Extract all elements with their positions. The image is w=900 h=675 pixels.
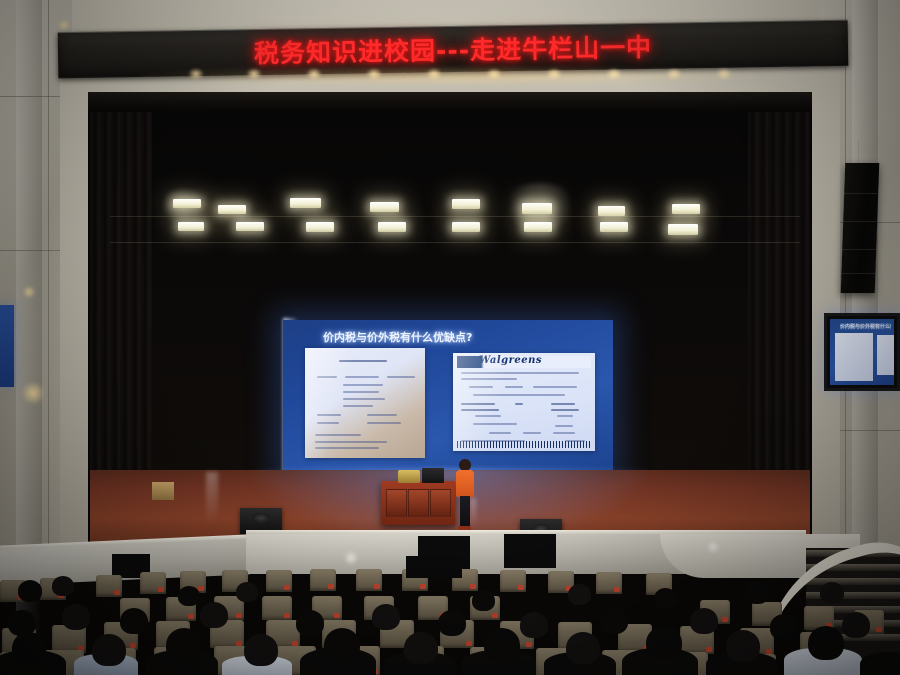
- slide-title: 价内税与价外税有什么优缺点?: [323, 329, 593, 345]
- audience-head: [372, 604, 400, 630]
- apron-shadow-panel: [406, 556, 462, 578]
- audience-head: [568, 584, 591, 605]
- banner-uplight: [426, 68, 442, 80]
- laptop: [422, 468, 444, 483]
- stage-light-lower: [378, 222, 406, 232]
- monitor-doc-invoice: [835, 333, 873, 381]
- audience-head: [404, 632, 438, 664]
- audience-head: [18, 580, 42, 602]
- banner-uplight: [246, 68, 262, 80]
- banner-uplight: [546, 68, 562, 80]
- audience-head: [726, 630, 760, 662]
- stage-curtain-left: [90, 112, 152, 492]
- walgreens-brand-text: Walgreens: [479, 355, 542, 366]
- banner-uplight: [306, 68, 322, 80]
- stage-light-lower: [178, 222, 204, 231]
- wall-seam: [48, 0, 49, 560]
- banner-uplight: [366, 68, 382, 80]
- side-monitor-right: 价内税与价外税有什么优缺点?: [824, 313, 900, 391]
- stage-light-upper: [522, 203, 552, 214]
- wooden-podium: [381, 481, 455, 525]
- audience-head: [166, 628, 202, 662]
- audience-head: [808, 626, 844, 660]
- audience-head: [12, 632, 46, 664]
- stage-light-upper: [290, 198, 321, 208]
- receipt-barcode: [457, 441, 591, 448]
- projection-screen: 价内税与价外税有什么优缺点? Walgreens: [283, 320, 613, 472]
- stage-light-lower: [452, 222, 480, 232]
- presenter-torso: [456, 470, 474, 497]
- wall-lamp: [20, 382, 46, 404]
- walgreens-receipt-image: Walgreens: [453, 353, 595, 451]
- stage-light-lower: [668, 224, 698, 235]
- side-monitor-right-screen: 价内税与价外税有什么优缺点?: [830, 319, 894, 385]
- led-banner-text: 税务知识进校园---走进牛栏山一中: [254, 28, 653, 70]
- audience-head: [770, 614, 798, 640]
- hanging-line-array-speaker: [841, 163, 880, 293]
- audience-head: [472, 590, 495, 611]
- apron-light: [707, 540, 719, 554]
- cardboard-box: [152, 482, 174, 500]
- audience-head: [178, 586, 200, 606]
- proscenium-header-bar: [88, 92, 812, 112]
- side-monitor-left: [0, 305, 14, 387]
- floor-highlight: [214, 472, 218, 522]
- side-monitor-slide-title: 价内税与价外税有什么优缺点?: [840, 323, 891, 330]
- stage-light-upper: [370, 202, 399, 212]
- stage-light-upper: [218, 205, 246, 214]
- banner-uplight: [606, 68, 622, 80]
- audience-head: [745, 582, 769, 604]
- lighting-truss: [110, 216, 800, 217]
- stage-light-upper: [452, 199, 480, 209]
- audience-head: [244, 634, 278, 666]
- projector: [398, 470, 420, 483]
- stage-curtain-right: [748, 112, 810, 492]
- stage-light-lower: [306, 222, 334, 232]
- banner-uplight: [716, 68, 732, 80]
- presenter-legs: [460, 496, 470, 528]
- audience-head: [484, 628, 520, 662]
- monitor-doc-receipt: [877, 335, 894, 375]
- audience-shoulders: [860, 652, 900, 675]
- audience-head: [566, 632, 600, 664]
- audience-head: [646, 626, 682, 660]
- audience-head: [690, 608, 718, 634]
- audience-head: [236, 582, 258, 602]
- presenter: [455, 459, 475, 531]
- audience-head: [520, 612, 548, 638]
- audience-head: [600, 608, 628, 634]
- stage-light-upper: [173, 199, 201, 208]
- stage-light-lower: [236, 222, 264, 231]
- audience-head: [438, 610, 466, 636]
- banner-uplight: [666, 68, 682, 80]
- walgreens-logo: Walgreens: [457, 356, 591, 368]
- stage-light-lower: [524, 222, 552, 232]
- audience-head: [842, 612, 870, 638]
- chinese-invoice-image: [305, 348, 425, 458]
- audience-head: [200, 602, 228, 628]
- banner-uplight: [188, 68, 204, 80]
- lighting-truss: [110, 242, 800, 243]
- audience-head: [324, 628, 360, 662]
- audience-head: [52, 576, 74, 596]
- stage-light-upper: [598, 206, 625, 216]
- audience-head: [62, 604, 90, 630]
- wall-lamp: [58, 20, 70, 30]
- audience-head: [92, 634, 126, 666]
- wall-lamp: [22, 286, 36, 298]
- floor-highlight: [206, 472, 214, 524]
- stage-light-upper: [672, 204, 700, 214]
- stage-light-lower: [600, 222, 628, 232]
- auditorium-photo: 税务知识进校园---走进牛栏山一中 价内税与价外税有什么优缺点?: [0, 0, 900, 675]
- audience-head: [120, 608, 148, 634]
- audience-head: [820, 582, 844, 604]
- audience-head: [296, 610, 324, 636]
- banner-uplight: [486, 68, 502, 80]
- audience-head: [654, 588, 677, 609]
